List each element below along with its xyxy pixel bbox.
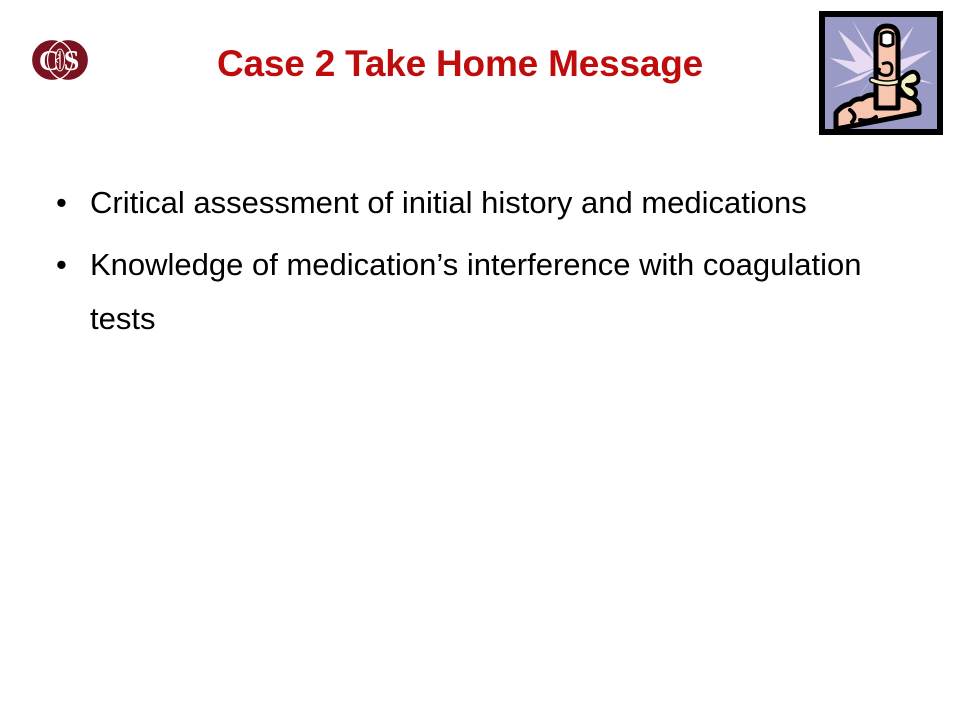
page-title: Case 2 Take Home Message <box>120 40 800 88</box>
list-item-text: Critical assessment of initial history a… <box>90 176 928 230</box>
bullet-dot-icon: • <box>56 238 67 292</box>
slide-canvas: C S Case 2 Take Home Message <box>0 0 960 720</box>
list-item: • Critical assessment of initial history… <box>48 176 928 230</box>
bullet-dot-icon: • <box>56 176 67 230</box>
bullet-list: • Critical assessment of initial history… <box>48 176 928 354</box>
cs-monogram-logo: C S <box>30 36 90 84</box>
list-item-text: Knowledge of medication’s interference w… <box>90 238 928 346</box>
list-item: • Knowledge of medication’s interference… <box>48 238 928 346</box>
finger-with-string-reminder-image <box>816 8 946 138</box>
svg-text:S: S <box>64 46 80 77</box>
